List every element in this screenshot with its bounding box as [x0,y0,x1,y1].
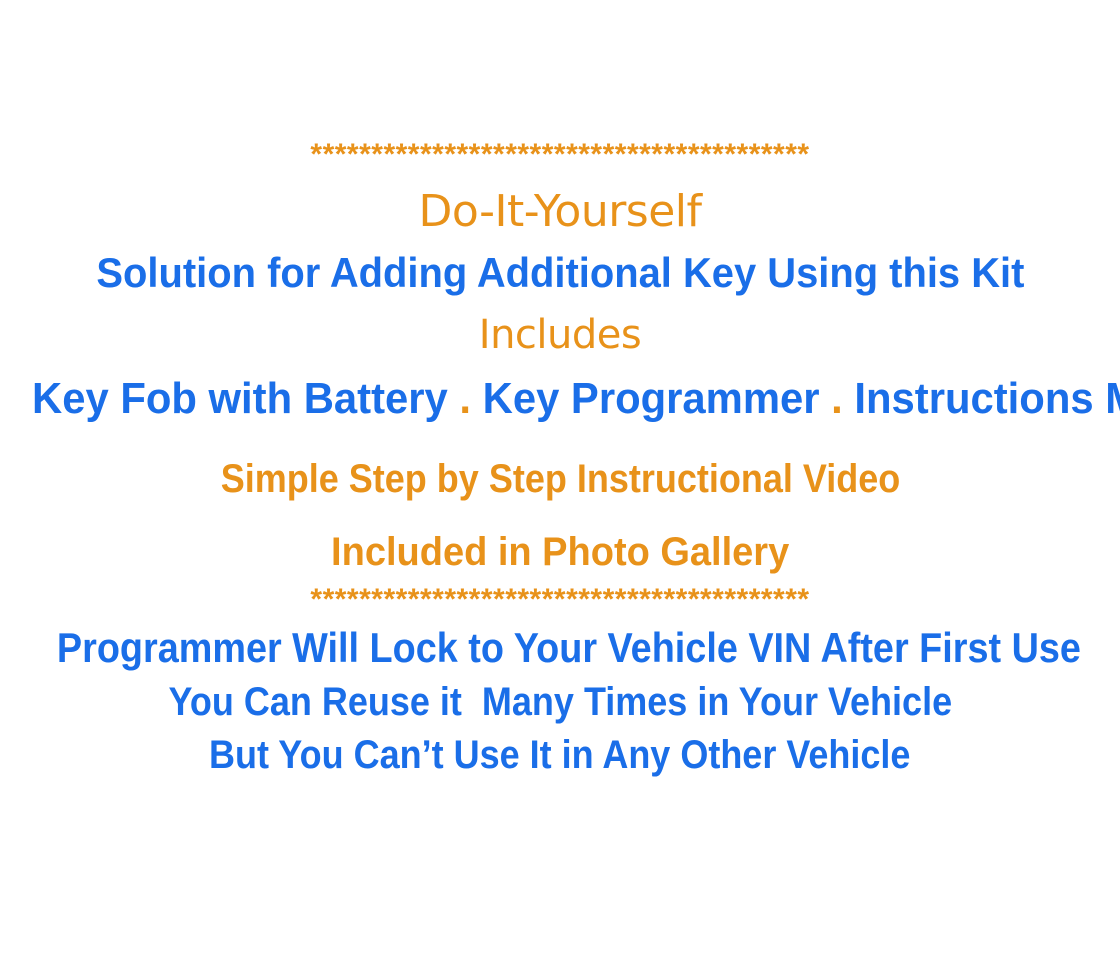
content-separator-dot-2: . [831,374,843,423]
divider-asterisks-bottom: ****************************************… [0,585,1120,615]
disclaimer-vin-lock-text: Programmer Will Lock to Your Vehicle VIN… [57,627,1081,669]
content-item-instructions-manual: Instructions Manual [854,374,1120,423]
heading-solution-for-adding-key: Solution for Adding Additional Key Using… [0,252,1120,294]
listing-graphic: ****************************************… [0,0,1120,956]
heading-photo-gallery-text: Included in Photo Gallery [331,532,789,572]
content-item-key-fob: Key Fob with Battery [32,374,448,423]
heading-includes: Includes [0,315,1120,355]
heading-do-it-yourself: Do-It-Yourself [0,190,1120,234]
disclaimer-line-reuse: You Can Reuse it Many Times in Your Vehi… [0,682,1120,722]
content-spacer-3 [820,374,832,423]
disclaimer-line-other-vehicle: But You Can’t Use It in Any Other Vehicl… [0,735,1120,775]
heading-instructional-video-text: Simple Step by Step Instructional Video [220,459,899,499]
content-spacer-4 [843,374,855,423]
disclaimer-line-vin-lock: Programmer Will Lock to Your Vehicle VIN… [0,627,1120,669]
contents-list: Key Fob with Battery . Key Programmer . … [0,377,1120,421]
disclaimer-other-vehicle-text: But You Can’t Use It in Any Other Vehicl… [209,735,910,775]
heading-included-in-photo-gallery: Included in Photo Gallery [0,532,1120,572]
heading-instructional-video: Simple Step by Step Instructional Video [0,459,1120,499]
content-separator-dot-1: . [459,374,471,423]
content-item-key-programmer: Key Programmer [483,374,820,423]
content-spacer-1 [448,374,460,423]
contents-list-inner: Key Fob with Battery . Key Programmer . … [32,377,1120,421]
divider-asterisks-top: ****************************************… [0,140,1120,170]
disclaimer-reuse-text: You Can Reuse it Many Times in Your Vehi… [168,682,952,722]
heading-solution-text: Solution for Adding Additional Key Using… [96,252,1024,294]
content-spacer-2 [471,374,483,423]
